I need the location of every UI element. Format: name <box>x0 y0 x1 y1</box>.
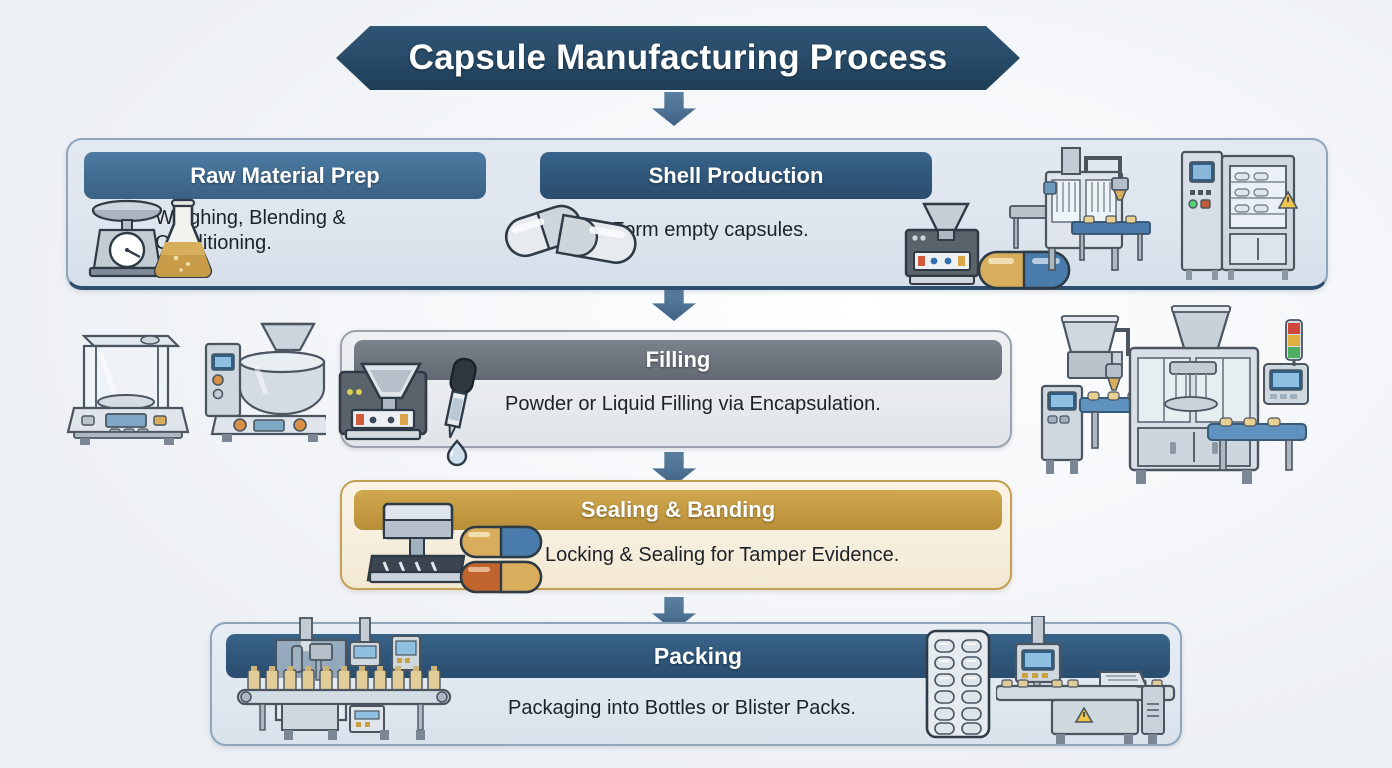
blending-mixer-illustration <box>196 318 326 450</box>
page-title: Capsule Manufacturing Process <box>409 38 948 78</box>
shell-dipping-machine-illustration <box>1000 142 1160 284</box>
step-title-shell-production: Shell Production <box>649 163 824 189</box>
arrow-title-to-row1-icon <box>652 92 696 126</box>
step-title-packing: Packing <box>654 643 742 670</box>
step-description-shell-production: Form empty capsules. <box>612 218 912 243</box>
analytical-balance-illustration <box>66 318 190 448</box>
arrow-row1-to-filling-icon <box>652 287 696 321</box>
step-title-sealing-banding: Sealing & Banding <box>581 497 775 523</box>
step-title-filling: Filling <box>646 347 711 373</box>
empty-capsule-shells-icon <box>497 204 645 266</box>
step-description-sealing-banding: Locking & Sealing for Tamper Evidence. <box>545 543 975 568</box>
banding-press-icon <box>366 500 470 588</box>
drying-cabinet-illustration <box>1176 146 1304 286</box>
erlenmeyer-flask-icon <box>152 198 214 278</box>
bottle-filling-line-icon <box>232 616 502 744</box>
step-header-shell-production: Shell Production <box>540 152 932 199</box>
step-description-packing: Packaging into Bottles or Blister Packs. <box>508 696 938 721</box>
step-header-raw-material-prep: Raw Material Prep <box>84 152 486 199</box>
diagram-canvas: Capsule Manufacturing Process Raw Materi… <box>0 0 1392 768</box>
step-description-filling: Powder or Liquid Filling via Encapsulati… <box>505 392 975 417</box>
encapsulation-machine-illustration <box>1024 304 1336 496</box>
liquid-dropper-icon <box>430 355 490 467</box>
sealed-capsule-icon <box>458 524 544 601</box>
shell-hopper-machine-icon <box>902 198 982 290</box>
blister-pack-icon <box>924 628 992 740</box>
powder-hopper-icon <box>336 358 430 444</box>
diagram-title-banner: Capsule Manufacturing Process <box>336 26 1020 90</box>
step-title-raw-material-prep: Raw Material Prep <box>190 163 380 189</box>
blister-packing-machine-illustration <box>996 616 1176 746</box>
